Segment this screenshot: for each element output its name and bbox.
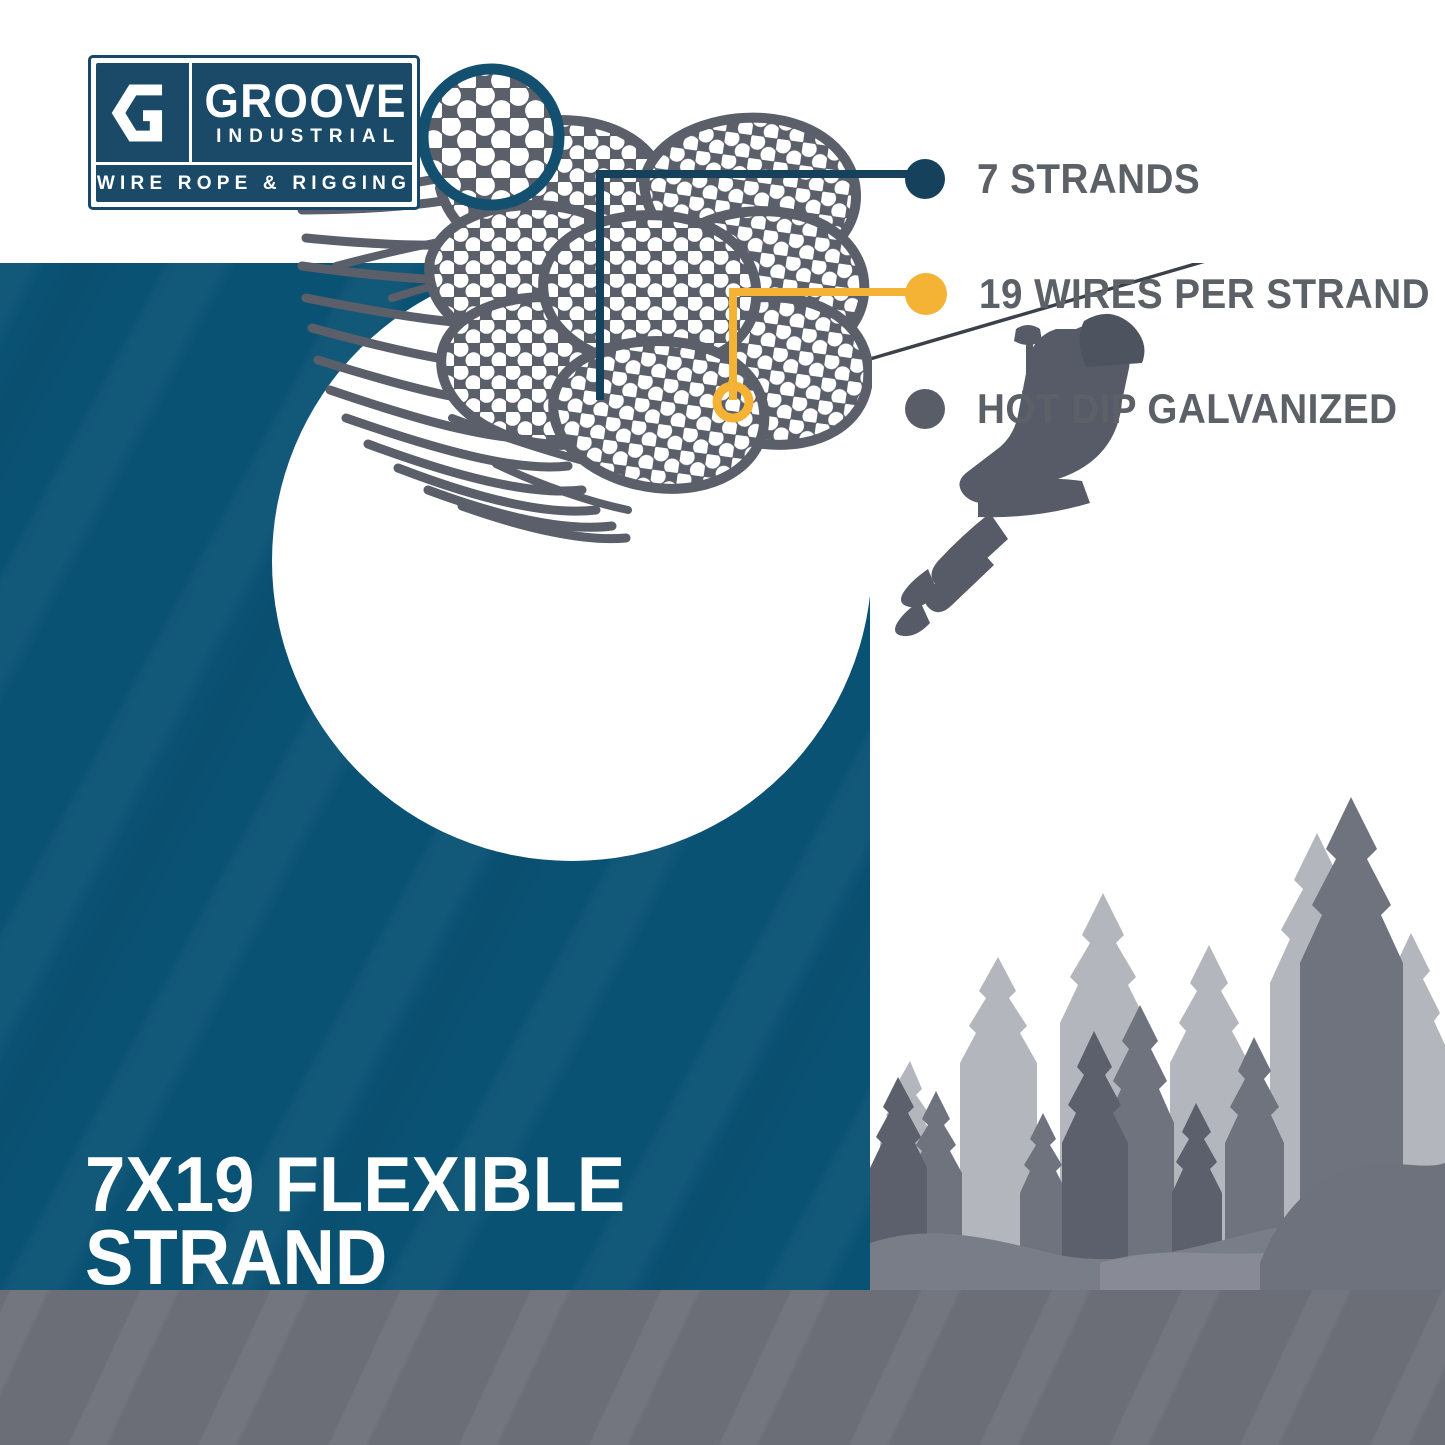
g-monogram-svg: [109, 79, 177, 147]
bottom-band: [0, 1290, 1445, 1445]
logo-name-secondary: INDUSTRIAL: [210, 127, 401, 146]
logo-name-primary: GROOVE: [204, 79, 406, 122]
headline-line-2: STRAND CONSTRUCTION: [85, 1221, 792, 1290]
logo-tagline-row: WIRE ROPE & RIGGING: [96, 165, 412, 202]
infographic-page: 7X19 FLEXIBLE STRAND CONSTRUCTION Our ai…: [0, 0, 1445, 1445]
brand-logo: GROOVE INDUSTRIAL WIRE ROPE & RIGGING: [88, 55, 420, 210]
logo-tagline: WIRE ROPE & RIGGING: [97, 173, 411, 195]
callout-dot-galvanized: [905, 389, 945, 429]
callout-wires: 19 WIRES PER STRAND: [905, 270, 1445, 318]
bottom-band-stripes: [0, 1290, 1445, 1445]
logo-inner: GROOVE INDUSTRIAL WIRE ROPE & RIGGING: [96, 63, 412, 202]
callout-label-wires: 19 WIRES PER STRAND: [979, 270, 1430, 318]
page-title: 7X19 FLEXIBLE STRAND CONSTRUCTION: [85, 1148, 792, 1290]
logo-top-row: GROOVE INDUSTRIAL: [96, 63, 412, 165]
callout-galvanized: HOT DIP GALVANIZED: [905, 385, 1434, 433]
logo-wordmark: GROOVE INDUSTRIAL: [192, 63, 419, 162]
callout-dot-strands: [905, 159, 945, 199]
callout-strands: 7 STRANDS: [905, 155, 1220, 203]
callout-label-strands: 7 STRANDS: [977, 155, 1200, 203]
groove-g-monogram-icon: [96, 63, 192, 162]
callout-dot-wires: [905, 273, 947, 315]
callout-label-galvanized: HOT DIP GALVANIZED: [977, 385, 1397, 433]
